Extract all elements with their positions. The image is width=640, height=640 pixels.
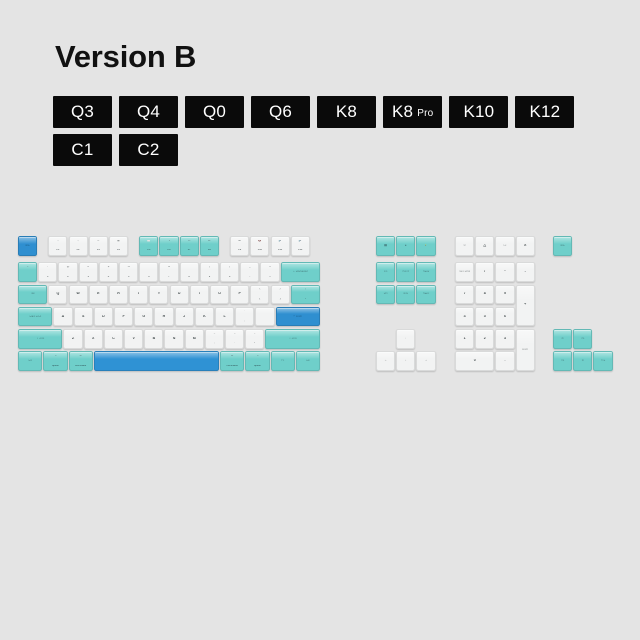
key-legend: L bbox=[216, 315, 233, 319]
key-legend: ← Backspace bbox=[282, 271, 319, 274]
key-legend-primary: ☼ bbox=[49, 240, 66, 243]
key-n[interactable]: N bbox=[164, 329, 183, 349]
key-legend-secondary: , bbox=[206, 342, 223, 345]
key-legend-secondary: 1 bbox=[39, 276, 56, 279]
key-legend: 1 bbox=[456, 337, 473, 341]
key-legend-primary: ) bbox=[221, 266, 238, 269]
key-square-icon[interactable]: □ bbox=[495, 236, 514, 256]
key-key[interactable]: 💡 bbox=[416, 236, 435, 256]
key-legend-primary: < bbox=[206, 333, 223, 336]
key-enter[interactable]: ↵ Enter bbox=[276, 307, 320, 327]
key-legend: D bbox=[95, 315, 112, 319]
badge-c1[interactable]: C1 bbox=[53, 134, 112, 166]
key-alt[interactable]: Alt bbox=[553, 351, 572, 371]
key-legend-primary: ! bbox=[39, 266, 56, 269]
key-legend: 6 bbox=[496, 315, 513, 319]
key-legend: Home bbox=[397, 271, 414, 274]
badge-c2[interactable]: C2 bbox=[119, 134, 178, 166]
key-close-icon[interactable]: ✕ bbox=[516, 236, 535, 256]
key-legend: K bbox=[196, 315, 213, 319]
key-legend: C bbox=[105, 337, 122, 341]
key-1[interactable]: !1 bbox=[38, 262, 57, 282]
key-esc[interactable]: Esc bbox=[18, 236, 37, 256]
key-f7[interactable]: ⏮F7 bbox=[180, 236, 199, 256]
key-f12[interactable]: 🔊F12 bbox=[291, 236, 310, 256]
key-key[interactable]: >. bbox=[225, 329, 244, 349]
key-o[interactable]: O bbox=[210, 285, 229, 305]
key-fn[interactable]: Fn bbox=[271, 351, 295, 371]
key-f11[interactable]: 🔉F11 bbox=[271, 236, 290, 256]
key-2[interactable]: 2 bbox=[475, 329, 494, 349]
key-key[interactable]: * bbox=[495, 262, 514, 282]
key-legend-primary: + bbox=[261, 266, 278, 269]
key-legend: 9 bbox=[496, 293, 513, 297]
key-legend: 0 bbox=[456, 359, 493, 363]
key-legend: ☰ bbox=[377, 244, 394, 248]
key-legend-primary: ⌥ bbox=[246, 355, 268, 358]
key-8[interactable]: *8 bbox=[180, 262, 199, 282]
key-0[interactable]: )0 bbox=[220, 262, 239, 282]
key-legend-secondary: \ bbox=[292, 298, 319, 301]
key-legend: O bbox=[211, 293, 228, 297]
key-legend-primary: ⌘ bbox=[70, 355, 92, 358]
key-legend-primary: ~ bbox=[19, 266, 36, 269]
key-legend-secondary: 9 bbox=[201, 276, 218, 279]
key-legend-primary: _ bbox=[241, 266, 258, 269]
badge-label: Q4 bbox=[137, 102, 160, 122]
key-9[interactable]: (9 bbox=[200, 262, 219, 282]
key-legend-secondary: = bbox=[261, 276, 278, 279]
key-f1[interactable]: ☼F1 bbox=[48, 236, 67, 256]
key-f2[interactable]: ☼F2 bbox=[69, 236, 88, 256]
key-legend: P bbox=[231, 293, 248, 297]
key-legend: ○ bbox=[456, 244, 473, 248]
key-legend-primary: $ bbox=[100, 266, 117, 269]
badge-k10[interactable]: K10 bbox=[449, 96, 508, 128]
key-legend: △ bbox=[476, 244, 493, 248]
key-2[interactable]: @2 bbox=[58, 262, 77, 282]
key-key[interactable]: ?/ bbox=[245, 329, 264, 349]
key-k[interactable]: K bbox=[195, 307, 214, 327]
key-8[interactable]: 8 bbox=[475, 285, 494, 305]
key-7[interactable]: &7 bbox=[159, 262, 178, 282]
key-legend-primary: ☲ bbox=[90, 240, 107, 243]
key-legend: ↑ bbox=[397, 338, 414, 341]
key-legend-secondary: option bbox=[44, 365, 66, 368]
key-legend: I bbox=[191, 293, 208, 297]
key-key[interactable]: <, bbox=[205, 329, 224, 349]
key-f6[interactable]: ◑F6 bbox=[159, 236, 178, 256]
key-legend-primary: @ bbox=[59, 266, 76, 269]
badge-k8-pro[interactable]: K8Pro bbox=[383, 96, 442, 128]
key-f10[interactable]: 🔇F10 bbox=[250, 236, 269, 256]
key-u[interactable]: U bbox=[170, 285, 189, 305]
key-q[interactable]: Q bbox=[48, 285, 67, 305]
key-w[interactable]: W bbox=[69, 285, 88, 305]
key-legend-primary: > bbox=[226, 333, 243, 336]
key-legend: 5 bbox=[476, 315, 493, 319]
key-legend-secondary: 3 bbox=[80, 276, 97, 279]
key-legend-secondary: command bbox=[70, 365, 92, 368]
badge-q0[interactable]: Q0 bbox=[185, 96, 244, 128]
key-legend: Ctrl bbox=[297, 360, 319, 363]
key-legend: + bbox=[517, 304, 534, 308]
key-legend: Esc bbox=[19, 245, 36, 248]
key-legend-secondary: 5 bbox=[120, 276, 137, 279]
key-legend: 🎙 bbox=[397, 245, 414, 248]
key-legend-primary: ⏯ bbox=[201, 240, 218, 243]
key-5[interactable]: 5 bbox=[475, 307, 494, 327]
key-legend-secondary: / bbox=[246, 342, 263, 345]
badge-label: C2 bbox=[137, 140, 159, 160]
key-legend: J bbox=[176, 315, 193, 319]
key-v[interactable]: V bbox=[124, 329, 143, 349]
key-fn1[interactable]: Fn1 bbox=[593, 351, 612, 371]
key-legend-primary: ▦ bbox=[110, 240, 127, 243]
key-legend: V bbox=[125, 337, 142, 341]
key-legend-primary: 🔊 bbox=[292, 240, 309, 243]
key-legend: T bbox=[130, 293, 147, 297]
key-legend: Z bbox=[64, 337, 81, 341]
key-legend-secondary: 7 bbox=[160, 276, 177, 279]
key-legend: - bbox=[517, 270, 534, 274]
key-legend: Enter bbox=[517, 349, 534, 352]
key-del[interactable]: Del bbox=[376, 285, 395, 305]
key-legend: ⇧ Shift bbox=[19, 338, 61, 341]
key-legend-primary: ( bbox=[201, 266, 218, 269]
key-0[interactable]: 0 bbox=[455, 351, 494, 371]
key-legend: End bbox=[397, 293, 414, 296]
key-legend: Tab bbox=[19, 293, 46, 296]
key-legend-primary: 🔇 bbox=[251, 240, 268, 243]
key-key[interactable]: - bbox=[516, 262, 535, 282]
key-legend-secondary: F7 bbox=[181, 249, 198, 252]
key-legend: * bbox=[496, 270, 513, 274]
key-windows-icon[interactable]: ⊞ bbox=[553, 329, 572, 349]
key-t[interactable]: T bbox=[129, 285, 148, 305]
key-end[interactable]: End bbox=[396, 285, 415, 305]
key-key[interactable]: ☰ bbox=[376, 236, 395, 256]
key-tab[interactable]: Tab bbox=[18, 285, 47, 305]
badge-k8[interactable]: K8 bbox=[317, 96, 376, 128]
key-shift[interactable]: ⇧ Shift bbox=[18, 329, 62, 349]
key-legend: Fn bbox=[272, 360, 294, 363]
key-ctrl[interactable]: Ctrl bbox=[296, 351, 320, 371]
key-legend: W bbox=[70, 293, 87, 297]
key-legend: ✕ bbox=[517, 244, 534, 248]
key-legend: Q bbox=[49, 293, 66, 297]
key-p[interactable]: P bbox=[230, 285, 249, 305]
key-4[interactable]: 4 bbox=[455, 307, 474, 327]
key-legend-secondary: F12 bbox=[292, 249, 309, 252]
key-legend: R bbox=[110, 293, 127, 297]
key-legend-secondary: F1 bbox=[49, 249, 66, 252]
key-legend: ⊞ bbox=[574, 360, 591, 363]
key-legend-primary: & bbox=[160, 266, 177, 269]
key-enter[interactable]: Enter bbox=[516, 329, 535, 371]
badge-q3[interactable]: Q3 bbox=[53, 96, 112, 128]
key-legend: . bbox=[496, 359, 513, 363]
key-legend: 2 bbox=[476, 337, 493, 341]
key-legend-secondary: F11 bbox=[272, 249, 289, 252]
key-spacebar[interactable] bbox=[94, 351, 219, 371]
key-b[interactable]: B bbox=[144, 329, 163, 349]
key-legend: Ctrl bbox=[19, 360, 41, 363]
key-legend: □ bbox=[496, 244, 513, 248]
key-legend: Ins bbox=[377, 271, 394, 274]
key-legend: N bbox=[165, 337, 182, 341]
key-legend: Num clear bbox=[456, 271, 473, 274]
key-legend-secondary: F2 bbox=[70, 249, 87, 252]
key-legend: PgDn bbox=[417, 293, 434, 296]
key-legend-primary: : bbox=[236, 310, 253, 313]
key-legend-secondary: F6 bbox=[160, 249, 177, 252]
key-j[interactable]: J bbox=[175, 307, 194, 327]
key-legend: ↓ bbox=[397, 360, 414, 363]
key-legend-secondary: ' bbox=[256, 320, 273, 323]
key-legend-primary: ⬜ bbox=[140, 240, 157, 243]
key-key[interactable]: . bbox=[495, 351, 514, 371]
key-legend: M bbox=[186, 337, 203, 341]
key-4[interactable]: $4 bbox=[99, 262, 118, 282]
key-6[interactable]: 6 bbox=[495, 307, 514, 327]
key-shift[interactable]: ⇧ Shift bbox=[265, 329, 320, 349]
key-legend-secondary: 6 bbox=[140, 276, 157, 279]
key-z[interactable]: Z bbox=[63, 329, 82, 349]
key-legend-secondary: F10 bbox=[251, 249, 268, 252]
key-esc-extra[interactable]: Esc bbox=[553, 236, 572, 256]
key-pgup[interactable]: PgUp bbox=[416, 262, 435, 282]
key-legend: ↵ Enter bbox=[277, 315, 319, 318]
key-arrow-down[interactable]: ↓ bbox=[396, 351, 415, 371]
key-legend: F bbox=[115, 315, 132, 319]
key-legend-primary: " bbox=[256, 310, 273, 313]
key-circle-icon[interactable]: ○ bbox=[455, 236, 474, 256]
badge-label: K12 bbox=[529, 102, 560, 122]
key-legend: Alt bbox=[574, 338, 591, 341]
key-legend-primary: ^ bbox=[140, 266, 157, 269]
badge-label: Q0 bbox=[203, 102, 226, 122]
key-pgdn[interactable]: PgDn bbox=[416, 285, 435, 305]
key-5[interactable]: %5 bbox=[119, 262, 138, 282]
key-f5[interactable]: ⬜F5 bbox=[139, 236, 158, 256]
key-y[interactable]: Y bbox=[149, 285, 168, 305]
key-legend: ⊞ bbox=[554, 338, 571, 341]
key-s[interactable]: S bbox=[74, 307, 93, 327]
key-legend-primary: ☼ bbox=[70, 240, 87, 243]
key-key[interactable]: :; bbox=[235, 307, 254, 327]
key-legend-secondary: F5 bbox=[140, 249, 157, 252]
key-ins[interactable]: Ins bbox=[376, 262, 395, 282]
badge-label: K10 bbox=[463, 102, 494, 122]
badge-superscript: Pro bbox=[417, 108, 433, 119]
key-legend: A bbox=[54, 315, 71, 319]
badge-k12[interactable]: K12 bbox=[515, 96, 574, 128]
key-legend: Caps Lock bbox=[19, 315, 51, 318]
key-r[interactable]: R bbox=[109, 285, 128, 305]
badge-label: C1 bbox=[71, 140, 93, 160]
key-option[interactable]: ⌥option bbox=[43, 351, 67, 371]
key-f3[interactable]: ☲F3 bbox=[89, 236, 108, 256]
key-legend: 💡 bbox=[417, 245, 434, 248]
key-f9[interactable]: ⏭F9 bbox=[230, 236, 249, 256]
key-legend-secondary: [ bbox=[251, 298, 268, 301]
key-key[interactable]: |\ bbox=[291, 285, 320, 305]
key-triangle-icon[interactable]: △ bbox=[475, 236, 494, 256]
key-legend-primary: ⏮ bbox=[181, 240, 198, 243]
keycap-set-layout: Esc☼F1☼F2☲F3▦F4⬜F5◑F6⏮F7⏯F8⏭F9🔇F10🔉F11🔊F… bbox=[18, 236, 624, 388]
key-legend-primary: * bbox=[181, 266, 198, 269]
key-legend: / bbox=[476, 270, 493, 274]
key-key[interactable]: "' bbox=[255, 307, 274, 327]
key-legend: 4 bbox=[456, 315, 473, 319]
key-legend: Y bbox=[150, 293, 167, 297]
key-legend-secondary: F3 bbox=[90, 249, 107, 252]
key-legend-secondary: F9 bbox=[231, 249, 248, 252]
key-legend-primary: ⌥ bbox=[44, 355, 66, 358]
key-legend-primary: ? bbox=[246, 333, 263, 336]
key-i[interactable]: I bbox=[190, 285, 209, 305]
key-key[interactable]: + bbox=[516, 285, 535, 327]
key-3[interactable]: #3 bbox=[79, 262, 98, 282]
key-legend-primary: ◑ bbox=[160, 240, 177, 243]
key-legend: ← bbox=[377, 360, 394, 363]
key-legend: 7 bbox=[456, 293, 473, 297]
badge-label: K8 bbox=[392, 102, 413, 122]
key-legend-secondary: - bbox=[241, 276, 258, 279]
key-legend: → bbox=[417, 360, 434, 363]
key-legend: 8 bbox=[476, 293, 493, 297]
key-legend-primary: } bbox=[272, 288, 289, 291]
badge-q4[interactable]: Q4 bbox=[119, 96, 178, 128]
key-legend-primary: 🔉 bbox=[272, 240, 289, 243]
key-legend-secondary: F4 bbox=[110, 249, 127, 252]
key-key[interactable]: }] bbox=[271, 285, 290, 305]
key-legend-primary: # bbox=[80, 266, 97, 269]
key-legend-primary: % bbox=[120, 266, 137, 269]
key-key[interactable]: _- bbox=[240, 262, 259, 282]
key-c[interactable]: C bbox=[104, 329, 123, 349]
key-windows-icon[interactable]: ⊞ bbox=[573, 351, 592, 371]
key-key[interactable]: 🎙 bbox=[396, 236, 415, 256]
key-key[interactable]: ~` bbox=[18, 262, 37, 282]
key-legend-primary: | bbox=[292, 288, 319, 291]
key-legend-secondary: option bbox=[246, 365, 268, 368]
key-legend-primary: ⏭ bbox=[231, 240, 248, 243]
key-legend-secondary: command bbox=[221, 365, 243, 368]
key-f4[interactable]: ▦F4 bbox=[109, 236, 128, 256]
badge-label: Q3 bbox=[71, 102, 94, 122]
key-legend: G bbox=[135, 315, 152, 319]
key-7[interactable]: 7 bbox=[455, 285, 474, 305]
key-e[interactable]: E bbox=[89, 285, 108, 305]
key-legend: Del bbox=[377, 293, 394, 296]
key-legend: 3 bbox=[496, 337, 513, 341]
key-num-clear[interactable]: Num clear bbox=[455, 262, 474, 282]
key-backspace[interactable]: ← Backspace bbox=[281, 262, 320, 282]
key-legend-secondary: ` bbox=[19, 276, 36, 279]
key-arrow-up[interactable]: ↑ bbox=[396, 329, 415, 349]
key-arrow-left[interactable]: ← bbox=[376, 351, 395, 371]
key-legend-primary: { bbox=[251, 288, 268, 291]
key-command[interactable]: ⌘command bbox=[220, 351, 244, 371]
key-legend-secondary: F8 bbox=[201, 249, 218, 252]
key-x[interactable]: X bbox=[84, 329, 103, 349]
key-legend-secondary: 4 bbox=[100, 276, 117, 279]
key-legend: PgUp bbox=[417, 271, 434, 274]
key-legend: Fn1 bbox=[594, 360, 611, 363]
key-legend: S bbox=[75, 315, 92, 319]
key-legend-secondary: . bbox=[226, 342, 243, 345]
key-legend: Esc bbox=[554, 245, 571, 248]
key-legend-secondary: 0 bbox=[221, 276, 238, 279]
key-key[interactable]: / bbox=[475, 262, 494, 282]
key-key[interactable]: += bbox=[260, 262, 279, 282]
badge-label: Q6 bbox=[269, 102, 292, 122]
key-h[interactable]: H bbox=[154, 307, 173, 327]
key-legend: X bbox=[85, 337, 102, 341]
key-1[interactable]: 1 bbox=[455, 329, 474, 349]
key-ctrl[interactable]: Ctrl bbox=[18, 351, 42, 371]
key-f[interactable]: F bbox=[114, 307, 133, 327]
key-alt[interactable]: Alt bbox=[573, 329, 592, 349]
badge-q6[interactable]: Q6 bbox=[251, 96, 310, 128]
key-l[interactable]: L bbox=[215, 307, 234, 327]
key-legend-secondary: 8 bbox=[181, 276, 198, 279]
key-legend: Alt bbox=[554, 360, 571, 363]
key-legend-secondary: 2 bbox=[59, 276, 76, 279]
key-legend-secondary: ] bbox=[272, 298, 289, 301]
page-title: Version B bbox=[55, 41, 196, 72]
key-m[interactable]: M bbox=[185, 329, 204, 349]
key-legend: H bbox=[155, 315, 172, 319]
key-9[interactable]: 9 bbox=[495, 285, 514, 305]
key-legend: ⇧ Shift bbox=[266, 338, 319, 341]
key-legend-primary: ⌘ bbox=[221, 355, 243, 358]
badge-label: K8 bbox=[336, 102, 357, 122]
key-legend: E bbox=[90, 293, 107, 297]
key-legend-secondary: ; bbox=[236, 320, 253, 323]
key-6[interactable]: ^6 bbox=[139, 262, 158, 282]
key-home[interactable]: Home bbox=[396, 262, 415, 282]
key-command[interactable]: ⌘command bbox=[69, 351, 93, 371]
key-f8[interactable]: ⏯F8 bbox=[200, 236, 219, 256]
key-d[interactable]: D bbox=[94, 307, 113, 327]
key-legend: B bbox=[145, 337, 162, 341]
key-option[interactable]: ⌥option bbox=[245, 351, 269, 371]
key-g[interactable]: G bbox=[134, 307, 153, 327]
key-a[interactable]: A bbox=[53, 307, 72, 327]
key-caps-lock[interactable]: Caps Lock bbox=[18, 307, 52, 327]
key-3[interactable]: 3 bbox=[495, 329, 514, 349]
key-legend: U bbox=[171, 293, 188, 297]
key-arrow-right[interactable]: → bbox=[416, 351, 435, 371]
key-key[interactable]: {[ bbox=[250, 285, 269, 305]
compatibility-badge-list: Q3Q4Q0Q6K8K8ProK10K12C1C2 bbox=[53, 96, 593, 166]
